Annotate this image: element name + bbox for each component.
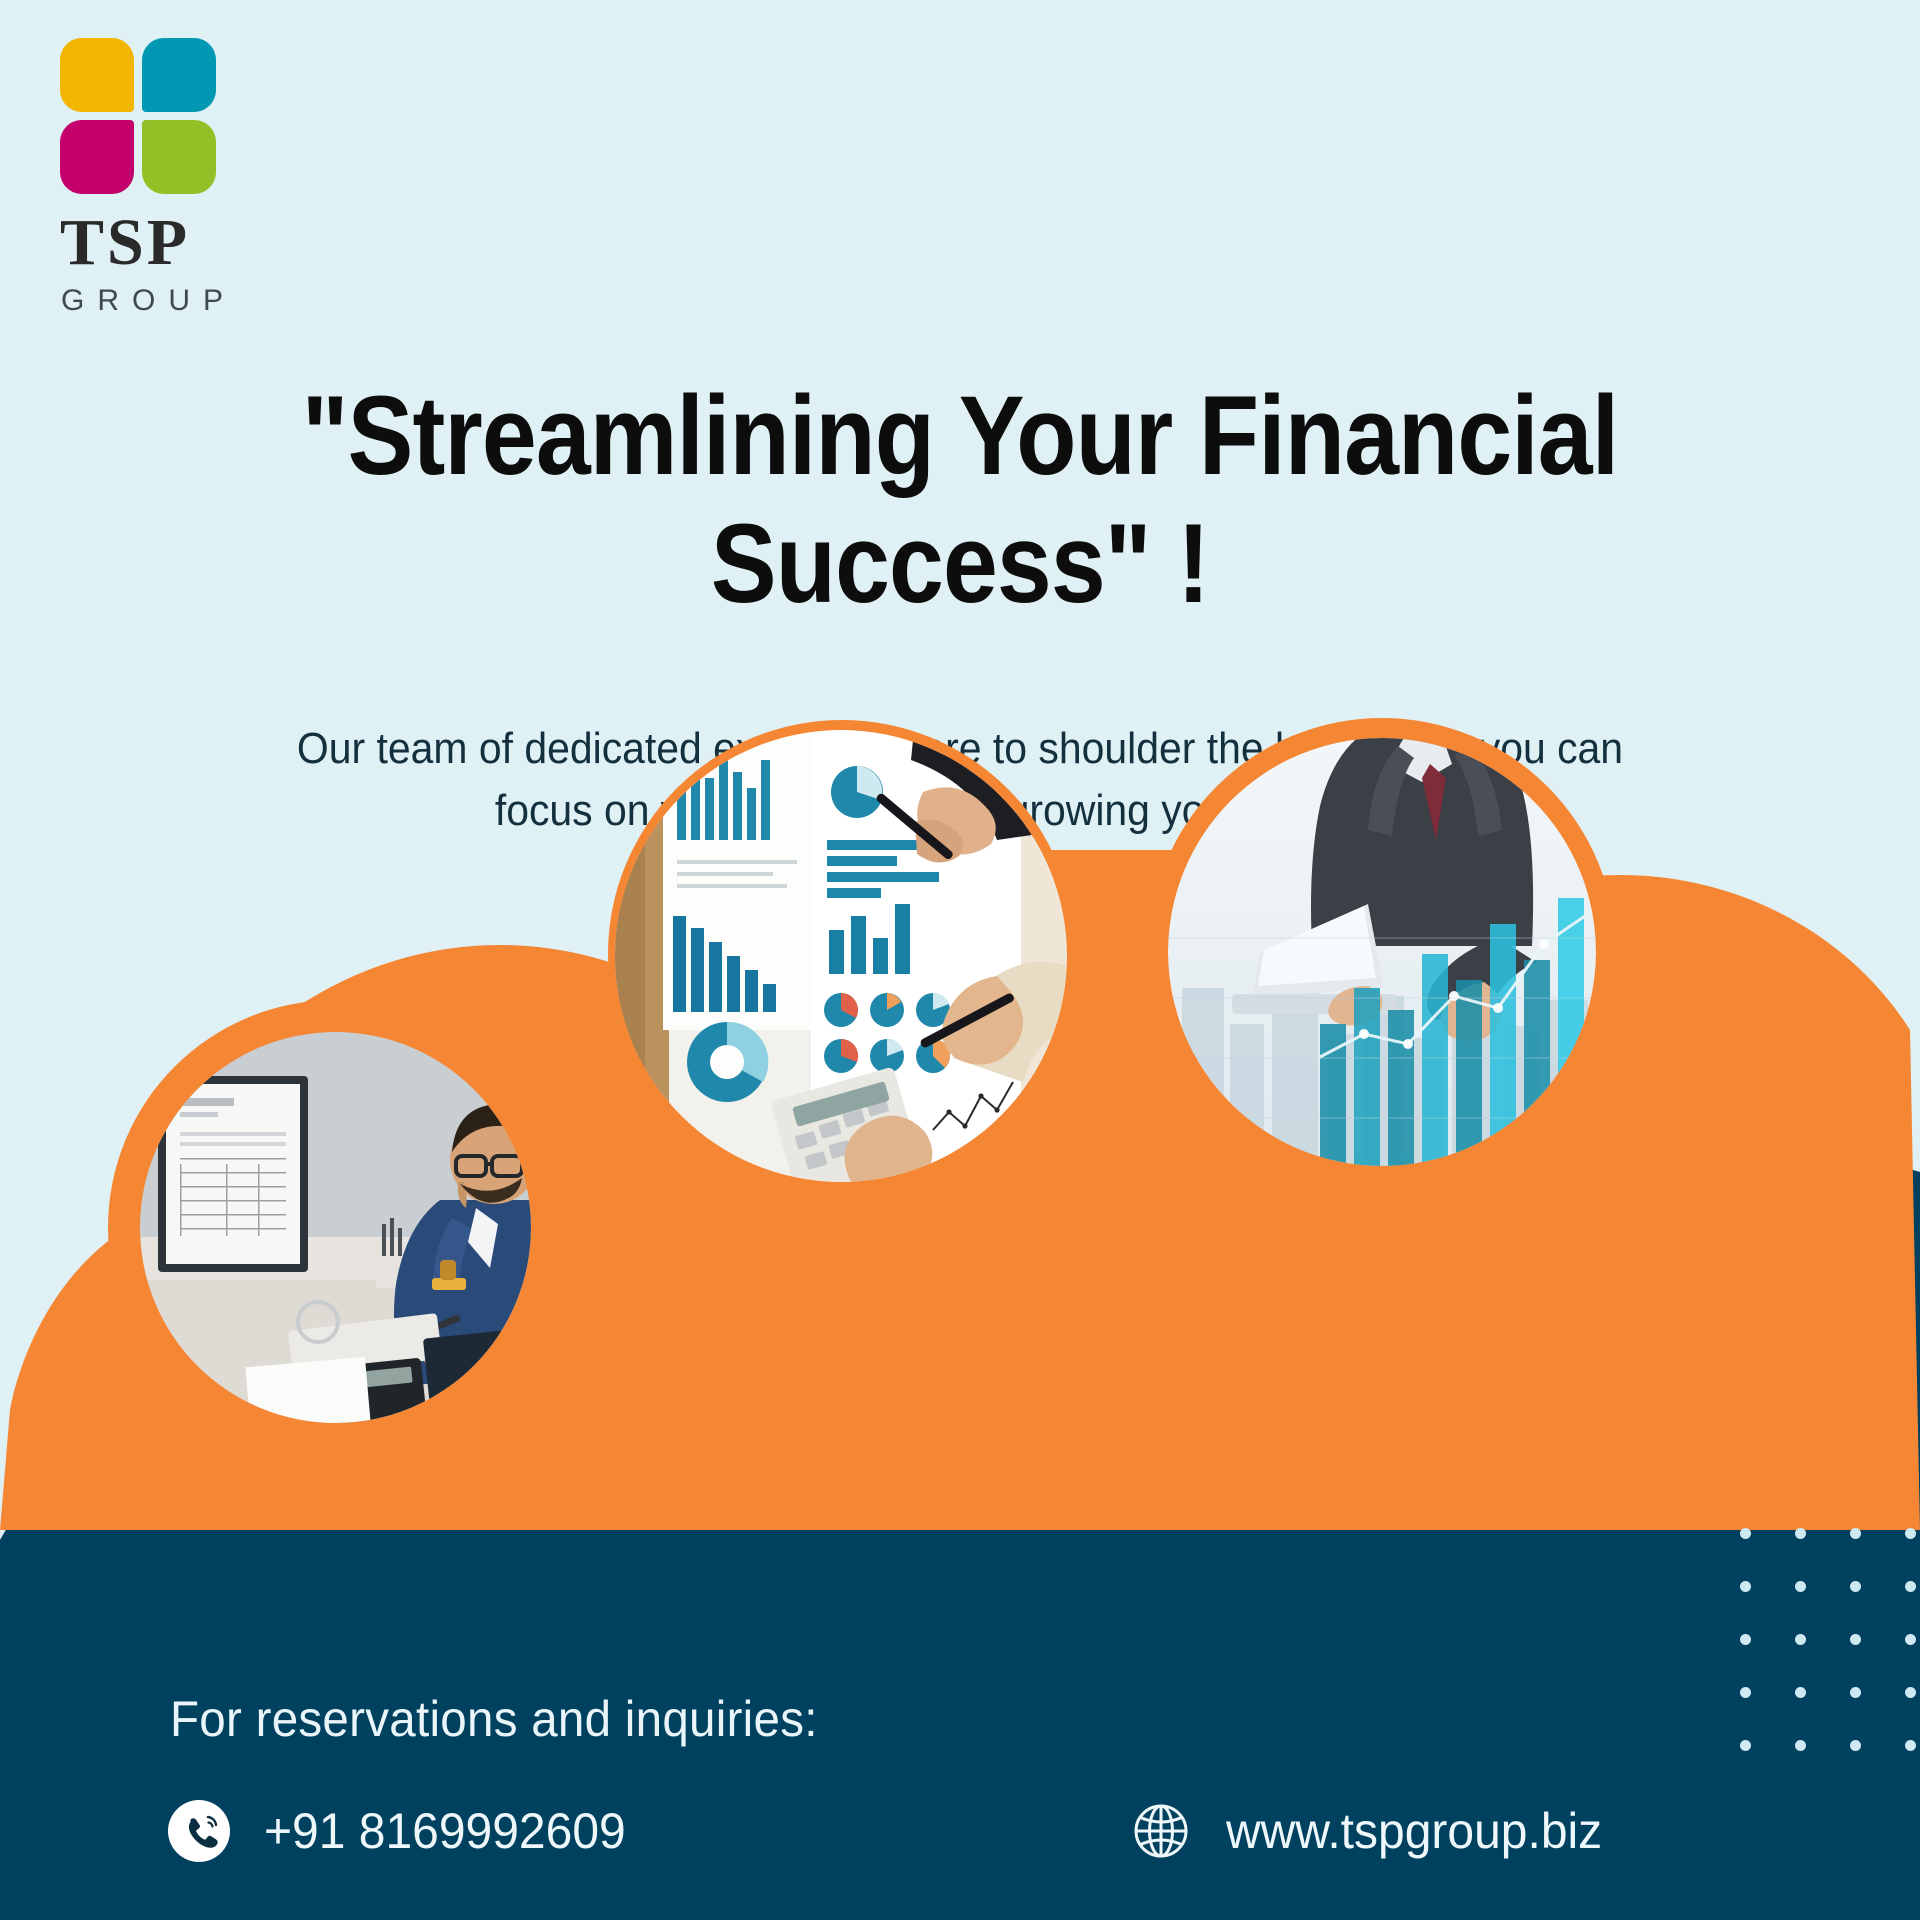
photo-financial-reports <box>615 730 1067 1182</box>
dot-grid-decoration <box>1740 1528 1920 1793</box>
dot <box>1905 1687 1916 1698</box>
dot <box>1740 1581 1751 1592</box>
dot <box>1795 1634 1806 1645</box>
dot <box>1740 1528 1751 1539</box>
dot <box>1905 1634 1916 1645</box>
dot-row <box>1740 1740 1920 1751</box>
dot <box>1850 1634 1861 1645</box>
dot <box>1850 1581 1861 1592</box>
dot <box>1795 1581 1806 1592</box>
petal-top-left <box>60 38 134 112</box>
dot <box>1740 1687 1751 1698</box>
dot <box>1850 1687 1861 1698</box>
dot <box>1850 1528 1861 1539</box>
phone-icon <box>168 1800 230 1862</box>
dot <box>1740 1634 1751 1645</box>
poster-canvas: TSP GROUP "Streamlining Your Financial S… <box>0 0 1920 1920</box>
petal-bottom-left <box>60 120 134 194</box>
brand-logo[interactable]: TSP GROUP <box>52 38 282 316</box>
photo-accountant-desk <box>140 1032 531 1423</box>
dot <box>1905 1528 1916 1539</box>
dot <box>1740 1740 1751 1751</box>
petal-top-right <box>142 38 216 112</box>
petal-bottom-right <box>142 120 216 194</box>
phone-number: +91 8169992609 <box>264 1802 626 1860</box>
dot <box>1905 1740 1916 1751</box>
dot <box>1795 1528 1806 1539</box>
brand-subtitle: GROUP <box>61 286 282 316</box>
contact-website[interactable]: www.tspgroup.biz <box>1130 1800 1618 1862</box>
dot <box>1795 1740 1806 1751</box>
dot-row <box>1740 1528 1920 1539</box>
page-title: "Streamlining Your Financial Success" ! <box>274 372 1647 627</box>
dot-row <box>1740 1581 1920 1592</box>
photo-growth-chart <box>1168 738 1596 1166</box>
dot <box>1905 1581 1916 1592</box>
contact-phone[interactable]: +91 8169992609 <box>168 1800 641 1862</box>
footer-heading: For reservations and inquiries: <box>170 1690 818 1748</box>
brand-name: TSP <box>60 210 282 276</box>
four-petal-flower-icon <box>60 38 220 198</box>
headline-line-1: "Streamlining Your Financial <box>274 372 1647 500</box>
dot <box>1795 1687 1806 1698</box>
dot-row <box>1740 1634 1920 1645</box>
dot-row <box>1740 1687 1920 1698</box>
headline-line-2: Success" ! <box>274 500 1647 628</box>
dot <box>1850 1740 1861 1751</box>
website-url: www.tspgroup.biz <box>1226 1802 1602 1860</box>
globe-icon <box>1130 1800 1192 1862</box>
